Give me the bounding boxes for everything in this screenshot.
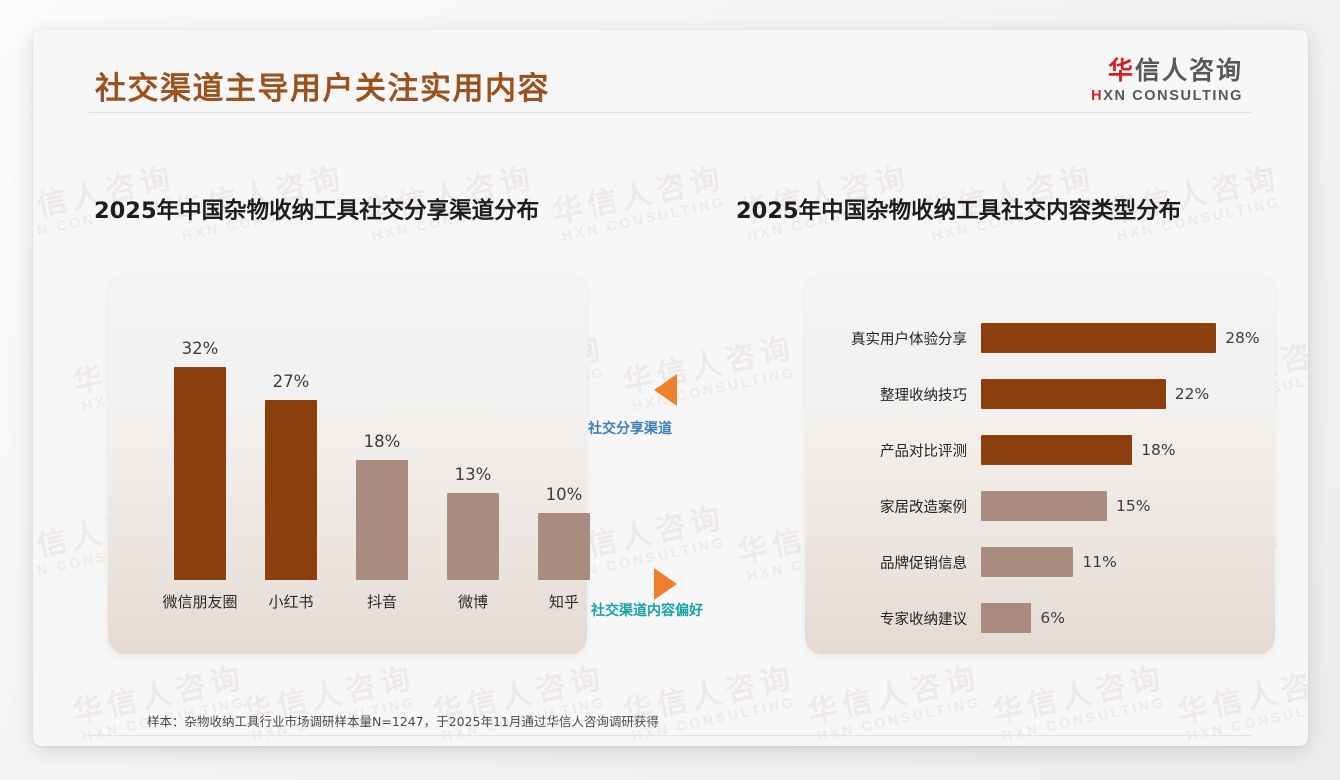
bar-row[interactable]: 专家收纳建议6%	[805, 600, 1275, 636]
bar-category-label: 专家收纳建议	[805, 608, 981, 629]
page-background: 华信人咨询HXN CONSULTING华信人咨询HXN CONSULTING华信…	[0, 0, 1340, 780]
logo-chinese: 华信人咨询	[1091, 58, 1243, 83]
left-chart-title: 2025年中国杂物收纳工具社交分享渠道分布	[94, 193, 539, 225]
bar-value-label: 18%	[1141, 441, 1175, 459]
bar-row[interactable]: 产品对比评测18%	[805, 432, 1275, 468]
bar-group[interactable]: 27%小红书	[265, 400, 317, 580]
vertical-bar-chart: 32%微信朋友圈27%小红书18%抖音13%微博10%知乎	[108, 276, 587, 654]
bar-category-label: 微信朋友圈	[162, 591, 237, 612]
bar-group[interactable]: 32%微信朋友圈	[174, 367, 226, 580]
bar-value-label: 15%	[1116, 497, 1150, 515]
bar-rect	[981, 435, 1132, 465]
watermark-text: 华信人咨询HXN CONSULTING	[550, 162, 731, 244]
left-chart-card: 32%微信朋友圈27%小红书18%抖音13%微博10%知乎	[108, 276, 587, 654]
bar-row[interactable]: 真实用户体验分享28%	[805, 320, 1275, 356]
bar-value-label: 6%	[1040, 609, 1065, 627]
annotation-content-preference	[654, 568, 677, 600]
bar-value-label: 27%	[273, 372, 310, 391]
bar-category-label: 家居改造案例	[805, 496, 981, 517]
logo-english-accent: H	[1091, 88, 1103, 104]
watermark-text: 华信人咨询HXN CONSULTING	[620, 332, 801, 414]
bar-group[interactable]: 10%知乎	[538, 513, 590, 580]
bar-rect	[174, 367, 226, 580]
bar-rect	[981, 323, 1216, 353]
bar-category-label: 整理收纳技巧	[805, 384, 981, 405]
watermark-text: 华信人咨询HXN CONSULTING	[1175, 662, 1308, 744]
bar-rect	[981, 547, 1073, 577]
bar-category-label: 品牌促销信息	[805, 552, 981, 573]
bar-category-label: 抖音	[367, 591, 397, 612]
bar-rect	[356, 460, 408, 580]
copyright-text: ©2026.1 HXR华信人咨询	[102, 744, 251, 746]
arrow-left-icon	[654, 374, 677, 406]
watermark-text: 华信人咨询HXN CONSULTING	[805, 662, 986, 744]
arrow-right-icon	[654, 568, 677, 600]
bar-category-label: 微博	[458, 591, 488, 612]
annotation-bottom-label: 社交渠道内容偏好	[591, 600, 703, 620]
slide-footer: ©2026.1 HXR华信人咨询 www.hxrcon.com	[33, 744, 1308, 746]
horizontal-bar-chart: 真实用户体验分享28%整理收纳技巧22%产品对比评测18%家居改造案例15%品牌…	[805, 276, 1275, 654]
page-title: 社交渠道主导用户关注实用内容	[95, 63, 550, 108]
bar-value-label: 13%	[455, 465, 492, 484]
bar-category-label: 知乎	[549, 591, 579, 612]
bar-category-label: 真实用户体验分享	[805, 328, 981, 349]
watermark-text: 华信人咨询HXN CONSULTING	[620, 662, 801, 744]
annotation-top-label: 社交分享渠道	[588, 418, 672, 438]
logo-chinese-rest: 信人咨询	[1135, 56, 1243, 85]
bar-rect	[981, 603, 1031, 633]
logo-chinese-accent: 华	[1108, 56, 1135, 85]
bar-rect	[447, 493, 499, 580]
bar-value-label: 28%	[1225, 329, 1259, 347]
watermark-text: 华信人咨询HXN CONSULTING	[430, 662, 611, 744]
bar-category-label: 产品对比评测	[805, 440, 981, 461]
watermark-text: 华信人咨询HXN CONSULTING	[990, 662, 1171, 744]
bar-row[interactable]: 家居改造案例15%	[805, 488, 1275, 524]
bar-rect	[981, 491, 1107, 521]
bar-row[interactable]: 品牌促销信息11%	[805, 544, 1275, 580]
annotation-social-share-channel	[654, 374, 677, 406]
watermark-text: 华信人咨询HXN CONSULTING	[240, 662, 421, 744]
website-link[interactable]: www.hxrcon.com	[1129, 744, 1236, 746]
sample-footnote: 样本：杂物收纳工具行业市场调研样本量N=1247，于2025年11月通过华信人咨…	[147, 711, 659, 730]
bar-rect	[265, 400, 317, 580]
bar-value-label: 10%	[546, 485, 583, 504]
slide-header: 社交渠道主导用户关注实用内容 华信人咨询 HXN CONSULTING	[33, 30, 1308, 120]
watermark-text: 华信人咨询HXN CONSULTING	[70, 662, 251, 744]
logo-english: HXN CONSULTING	[1091, 89, 1243, 104]
bar-value-label: 18%	[364, 432, 401, 451]
bar-group[interactable]: 18%抖音	[356, 460, 408, 580]
brand-logo: 华信人咨询 HXN CONSULTING	[1091, 58, 1243, 104]
bar-rect	[981, 379, 1166, 409]
header-divider	[89, 112, 1252, 113]
bar-row[interactable]: 整理收纳技巧22%	[805, 376, 1275, 412]
footer-divider	[89, 735, 1252, 736]
bar-rect	[538, 513, 590, 580]
bar-value-label: 11%	[1082, 553, 1116, 571]
right-chart-title: 2025年中国杂物收纳工具社交内容类型分布	[736, 193, 1181, 225]
bar-category-label: 小红书	[268, 591, 313, 612]
bar-value-label: 32%	[182, 339, 219, 358]
right-chart-card: 真实用户体验分享28%整理收纳技巧22%产品对比评测18%家居改造案例15%品牌…	[805, 276, 1275, 654]
logo-english-rest: XN CONSULTING	[1103, 88, 1243, 104]
bar-group[interactable]: 13%微博	[447, 493, 499, 580]
bar-value-label: 22%	[1175, 385, 1209, 403]
slide-card: 华信人咨询HXN CONSULTING华信人咨询HXN CONSULTING华信…	[33, 30, 1308, 746]
